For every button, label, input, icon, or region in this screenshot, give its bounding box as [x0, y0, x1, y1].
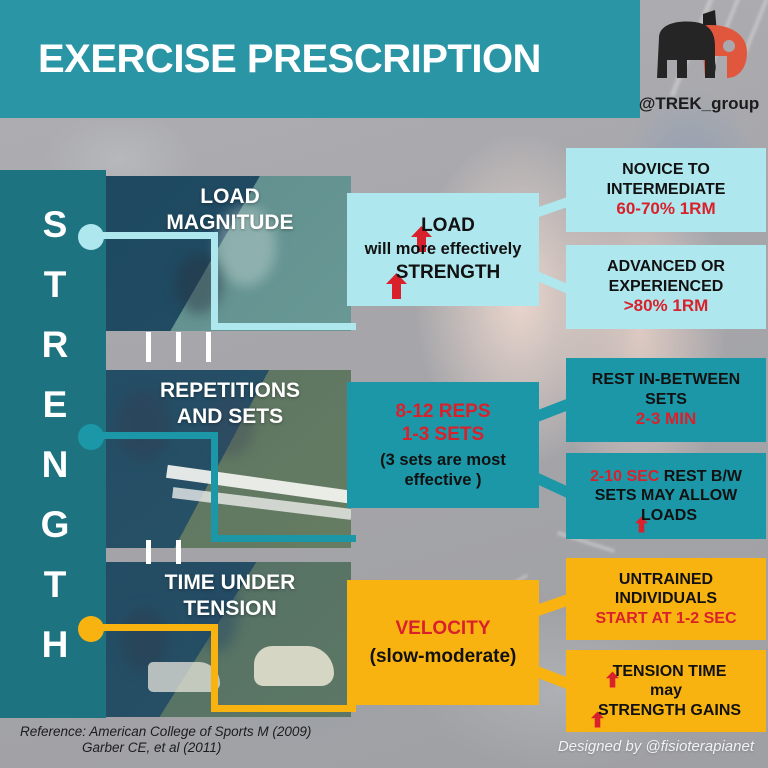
connector-dot-tut: [78, 616, 104, 642]
right-rest-short-line2: SETS MAY ALLOW: [595, 486, 738, 506]
connector-dot-reps: [78, 424, 104, 450]
photo-title-line1: LOAD: [110, 184, 350, 210]
right-rest-short-line1-red: 2-10 SEC: [590, 468, 659, 485]
photo-title-line2: TENSION: [110, 596, 350, 622]
mid-load-line3: STRENGTH: [396, 262, 501, 284]
photo-shoe-shape: [254, 646, 334, 686]
right-rest-short-line3: LOADS: [635, 506, 697, 526]
right-novice-line3: 60-70% 1RM: [616, 199, 715, 220]
mid-load-line2: will more effectively: [365, 240, 522, 259]
strength-letter-g: G: [41, 506, 70, 543]
photo-shoe-shape: [148, 662, 220, 692]
right-rest-short-line1-blk: REST B/W: [659, 468, 742, 485]
right-rest-line2: SETS: [645, 390, 687, 410]
right-box-rest-short: 2-10 SEC REST B/W SETS MAY ALLOW LOADS: [566, 453, 766, 539]
right-untrained-line3: START AT 1-2 SEC: [595, 609, 736, 629]
divider-tick: [176, 540, 181, 564]
design-credit: Designed by @fisioterapianet: [558, 738, 754, 755]
photo-title-line1: TIME UNDER: [110, 570, 350, 596]
mid-reps-line1: 8-12 REPS: [395, 400, 490, 423]
mid-velocity-line1: VELOCITY: [395, 617, 490, 640]
mid-box-velocity: VELOCITY (slow-moderate): [347, 580, 539, 705]
right-novice-line1: NOVICE TO: [622, 160, 710, 180]
right-box-rest: REST IN-BETWEEN SETS 2-3 MIN: [566, 358, 766, 442]
photo-title-repetitions-sets: REPETITIONS AND SETS: [110, 378, 350, 429]
right-box-untrained: UNTRAINED INDIVIDUALS START AT 1-2 SEC: [566, 558, 766, 640]
reference-line1: Reference: American College of Sports M …: [20, 724, 311, 740]
connector-line-tut-h2: [211, 705, 356, 712]
right-tension-line3: STRENGTH GAINS: [591, 701, 741, 721]
mid-reps-line2: 1-3 SETS: [402, 423, 484, 446]
photo-title-line2: AND SETS: [110, 404, 350, 430]
strength-letter-t1: T: [44, 266, 67, 303]
right-rest-line3: 2-3 MIN: [636, 409, 696, 430]
right-tension-line2: may: [650, 681, 682, 701]
right-advanced-line3: >80% 1RM: [624, 296, 709, 317]
page-header: EXERCISE PRESCRIPTION: [0, 0, 640, 118]
right-box-advanced: ADVANCED OR EXPERIENCED >80% 1RM: [566, 245, 766, 329]
strength-letter-s: S: [43, 206, 68, 243]
right-rest-short-line3-text: LOADS: [641, 506, 697, 526]
connector-line-reps-v: [211, 432, 218, 542]
strength-letter-r: R: [42, 326, 69, 363]
mid-box-reps: 8-12 REPS 1-3 SETS (3 sets are most effe…: [347, 382, 539, 508]
divider-tick: [146, 332, 151, 362]
right-advanced-line1: ADVANCED OR: [607, 257, 725, 277]
connector-line-load-h1: [96, 232, 218, 239]
connector-dot-load: [78, 224, 104, 250]
strength-letter-h: H: [42, 626, 69, 663]
right-tension-line1: TENSION TIME: [606, 662, 727, 682]
photo-title-line1: REPETITIONS: [110, 378, 350, 404]
connector-line-reps-h1: [96, 432, 218, 439]
mid-reps-line3: (3 sets are most: [380, 450, 506, 470]
mid-load-line1: LOAD: [421, 215, 475, 237]
right-tension-line3-text: STRENGTH GAINS: [598, 701, 741, 721]
connector-line-load-v: [211, 232, 218, 330]
right-advanced-line2: EXPERIENCED: [609, 277, 724, 297]
strength-letter-n: N: [42, 446, 69, 483]
reference-note: Reference: American College of Sports M …: [20, 724, 311, 757]
brand-handle: @TREK_group: [639, 94, 759, 114]
page-title: EXERCISE PRESCRIPTION: [38, 37, 541, 82]
mid-box-load: LOAD will more effectively STRENGTH: [347, 193, 539, 306]
infographic-canvas: EXERCISE PRESCRIPTION @TREK_group LOAD S…: [0, 0, 768, 768]
photo-title-time-under-tension: TIME UNDER TENSION: [110, 570, 350, 621]
right-novice-line2: INTERMEDIATE: [607, 180, 726, 200]
divider-tick: [146, 540, 151, 564]
right-untrained-line1: UNTRAINED: [619, 570, 713, 590]
right-rest-line1: REST IN-BETWEEN: [592, 370, 740, 390]
connector-line-reps-h2: [211, 535, 356, 542]
connector-line-tut-v: [211, 624, 218, 712]
connector-line-tut-h1: [96, 624, 218, 631]
strength-letter-t2: T: [44, 566, 67, 603]
divider-tick: [176, 332, 181, 362]
brand-logo-block: @TREK_group: [634, 8, 764, 126]
divider-tick: [206, 332, 211, 362]
elephant-logo-icon: [643, 8, 755, 92]
right-box-tension-time: TENSION TIME may STRENGTH GAINS: [566, 650, 766, 732]
right-untrained-line2: INDIVIDUALS: [615, 589, 717, 609]
mid-velocity-line2: (slow-moderate): [370, 645, 517, 668]
reference-line2: Garber CE, et al (2011): [82, 740, 311, 756]
right-box-novice: NOVICE TO INTERMEDIATE 60-70% 1RM: [566, 148, 766, 232]
photo-title-load-magnitude: LOAD MAGNITUDE: [110, 184, 350, 235]
mid-reps-line4: effective ): [404, 470, 481, 490]
connector-line-load-h2: [211, 323, 356, 330]
right-rest-short-line1: 2-10 SEC REST B/W: [590, 467, 742, 487]
strength-letter-e: E: [43, 386, 68, 423]
right-tension-line1-text: TENSION TIME: [613, 662, 727, 682]
